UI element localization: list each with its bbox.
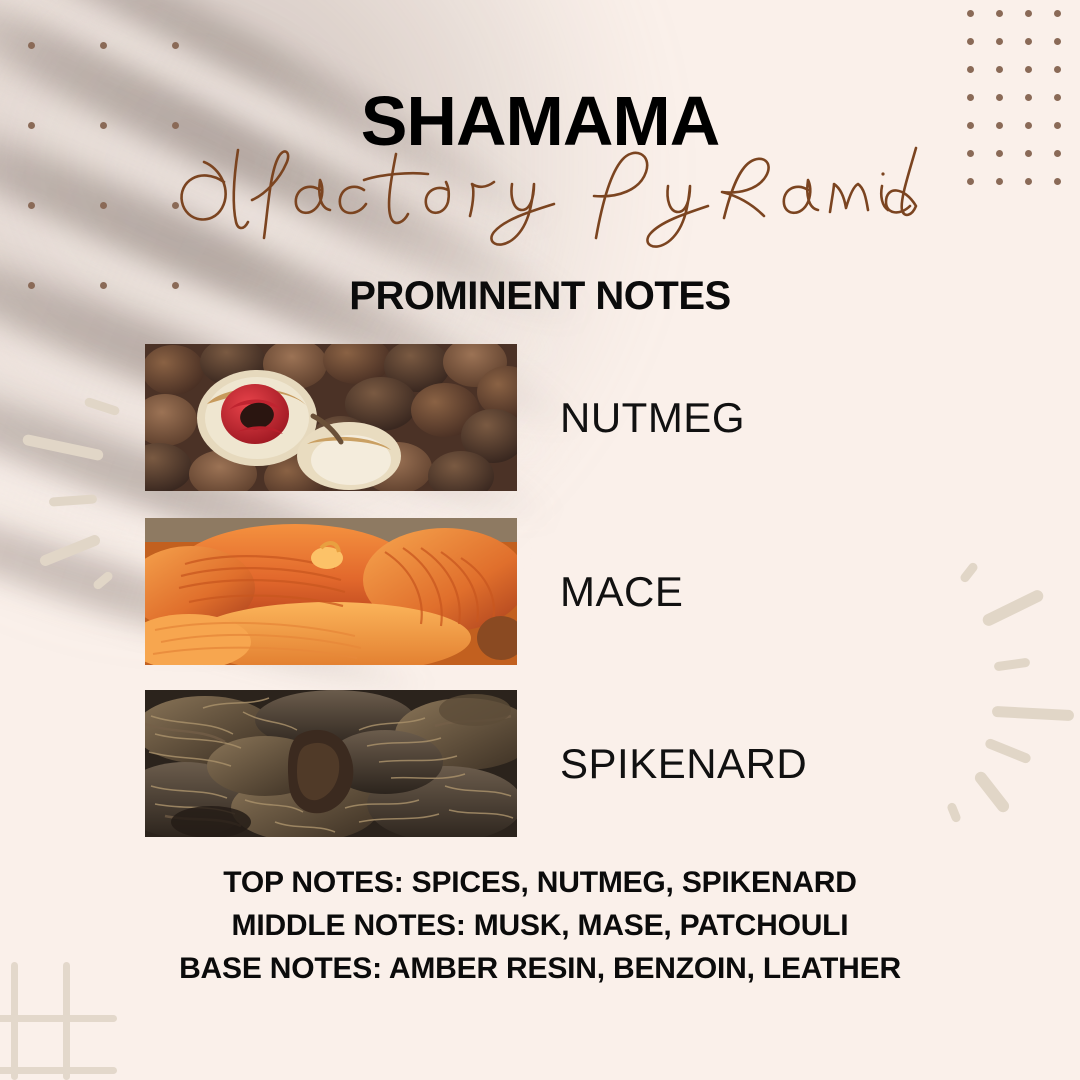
sunburst-ray — [22, 434, 104, 462]
decor-dot — [1054, 66, 1061, 73]
sunburst-ray — [946, 802, 962, 824]
decor-dot — [967, 10, 974, 17]
sunburst-ray — [984, 737, 1032, 764]
mace-photo — [145, 518, 517, 665]
note-label-spikenard: SPIKENARD — [560, 743, 807, 785]
grid-line-horizontal — [0, 1015, 117, 1022]
note-label-nutmeg: NUTMEG — [560, 397, 745, 439]
sunburst-ray — [972, 769, 1011, 814]
decor-dot — [996, 38, 1003, 45]
sunburst-ray — [959, 561, 980, 584]
sunburst-ray — [92, 570, 115, 591]
decor-dot — [1054, 10, 1061, 17]
sunburst-ray — [49, 494, 98, 506]
sunburst-ray — [83, 397, 120, 417]
decor-dot — [967, 66, 974, 73]
note-label-mace: MACE — [560, 571, 683, 613]
sunburst-ray — [981, 588, 1046, 628]
decor-dot — [1025, 66, 1032, 73]
decor-dot — [1025, 10, 1032, 17]
decor-dot — [996, 66, 1003, 73]
decor-dot — [1025, 38, 1032, 45]
decor-dot — [967, 38, 974, 45]
decor-dot — [100, 42, 107, 49]
sunburst-right — [930, 550, 1080, 850]
sunburst-ray — [38, 533, 101, 567]
decor-dot — [28, 42, 35, 49]
decor-dot — [172, 42, 179, 49]
page-title: SHAMAMA — [0, 86, 1080, 156]
spikenard-photo — [145, 690, 517, 837]
top-notes-line: TOP NOTES: SPICES, NUTMEG, SPIKENARD — [0, 861, 1080, 904]
base-notes-line: BASE NOTES: AMBER RESIN, BENZOIN, LEATHE… — [0, 947, 1080, 990]
nutmeg-photo — [145, 344, 517, 491]
poster-canvas: SHAMAMA — [0, 0, 1080, 1080]
sunburst-ray — [992, 706, 1074, 721]
section-heading: PROMINENT NOTES — [0, 276, 1080, 316]
decor-dot — [996, 10, 1003, 17]
grid-line-horizontal — [0, 1067, 117, 1074]
middle-notes-line: MIDDLE NOTES: MUSK, MASE, PATCHOULI — [0, 904, 1080, 947]
sunburst-ray — [994, 658, 1031, 672]
decor-dot — [1054, 38, 1061, 45]
olfactory-pyramid-notes: TOP NOTES: SPICES, NUTMEG, SPIKENARD MID… — [0, 861, 1080, 990]
